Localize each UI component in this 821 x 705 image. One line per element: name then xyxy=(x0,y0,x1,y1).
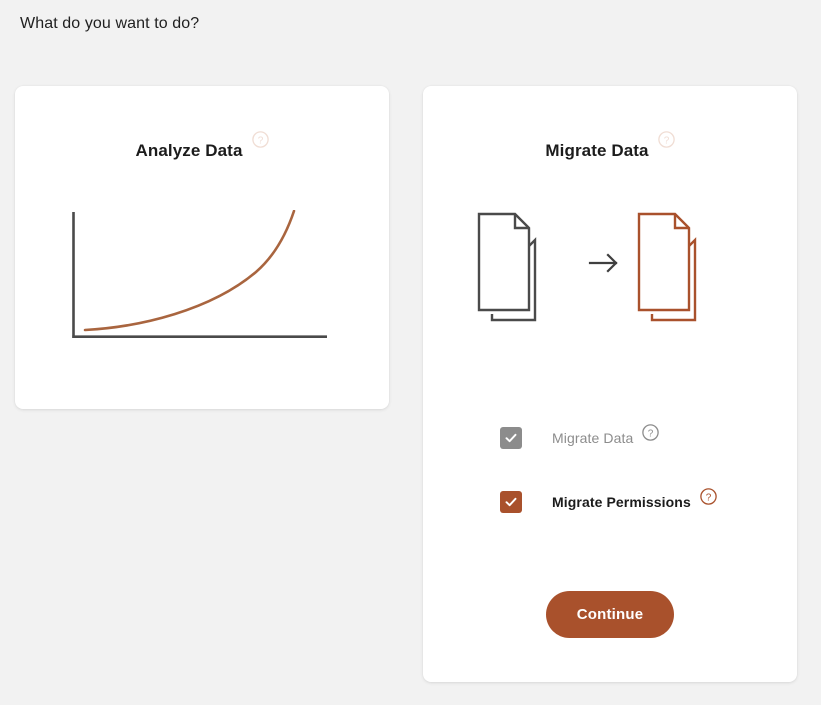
option-row-migrate-permissions[interactable]: Migrate Permissions ? xyxy=(500,491,717,513)
arrow-right-icon xyxy=(590,255,616,271)
svg-text:?: ? xyxy=(257,135,263,146)
svg-text:?: ? xyxy=(663,135,669,146)
continue-button-container: Continue xyxy=(423,591,797,638)
card-analyze-data[interactable]: Analyze Data ? xyxy=(15,86,389,409)
check-icon xyxy=(504,431,518,445)
chart-growth-curve xyxy=(85,211,294,330)
card-migrate-title: Migrate Data xyxy=(545,140,648,162)
option-row-migrate-data[interactable]: Migrate Data ? xyxy=(500,427,659,449)
svg-text:?: ? xyxy=(706,492,712,503)
check-icon xyxy=(504,495,518,509)
source-document-icon xyxy=(479,214,535,320)
card-migrate-data[interactable]: Migrate Data ? xyxy=(423,86,797,682)
card-analyze-header: Analyze Data ? xyxy=(15,140,389,162)
card-analyze-title: Analyze Data xyxy=(135,140,242,162)
card-migrate-header: Migrate Data ? xyxy=(423,140,797,162)
help-circle-icon[interactable]: ? xyxy=(642,424,659,441)
analyze-chart-illustration xyxy=(15,210,389,348)
option-label-migrate-data: Migrate Data xyxy=(552,429,633,447)
help-circle-icon[interactable]: ? xyxy=(658,131,675,148)
continue-button[interactable]: Continue xyxy=(546,591,675,638)
migrate-docs-illustration xyxy=(423,208,797,344)
help-circle-icon[interactable]: ? xyxy=(252,131,269,148)
checkbox-migrate-permissions[interactable] xyxy=(500,491,522,513)
checkbox-migrate-data[interactable] xyxy=(500,427,522,449)
help-circle-icon[interactable]: ? xyxy=(700,488,717,505)
option-label-migrate-permissions: Migrate Permissions xyxy=(552,493,691,511)
target-document-icon xyxy=(639,214,695,320)
page-title: What do you want to do? xyxy=(20,13,199,35)
svg-text:?: ? xyxy=(648,428,654,439)
